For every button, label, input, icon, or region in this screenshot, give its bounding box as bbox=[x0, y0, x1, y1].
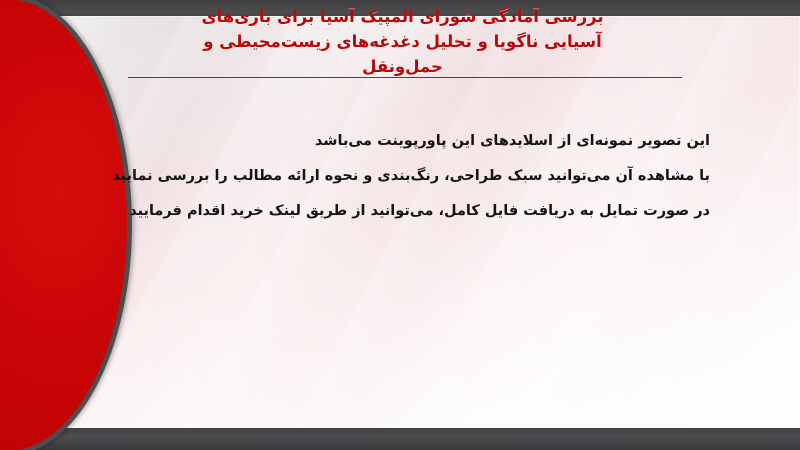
title-line-1: بررسی آمادگی شورای المپیک آسیا برای بازی… bbox=[120, 4, 685, 29]
body-line-1: این تصویر نمونه‌ای از اسلایدهای این پاور… bbox=[70, 124, 710, 159]
presentation-slide: بررسی آمادگی شورای المپیک آسیا برای بازی… bbox=[0, 0, 800, 450]
body-line-2: با مشاهده آن می‌توانید سبک طراحی، رنگ‌بن… bbox=[70, 159, 710, 194]
title-divider-rule bbox=[128, 77, 682, 78]
body-line-3: در صورت تمایل به دریافت فایل کامل، می‌تو… bbox=[70, 194, 710, 229]
slide-title: بررسی آمادگی شورای المپیک آسیا برای بازی… bbox=[120, 4, 685, 79]
title-line-2: آسیایی ناگویا و تحلیل دغدغه‌های زیست‌محی… bbox=[120, 29, 685, 54]
slide-body-text: این تصویر نمونه‌ای از اسلایدهای این پاور… bbox=[70, 124, 710, 229]
title-line-3: حمل‌ونقل bbox=[120, 54, 685, 79]
